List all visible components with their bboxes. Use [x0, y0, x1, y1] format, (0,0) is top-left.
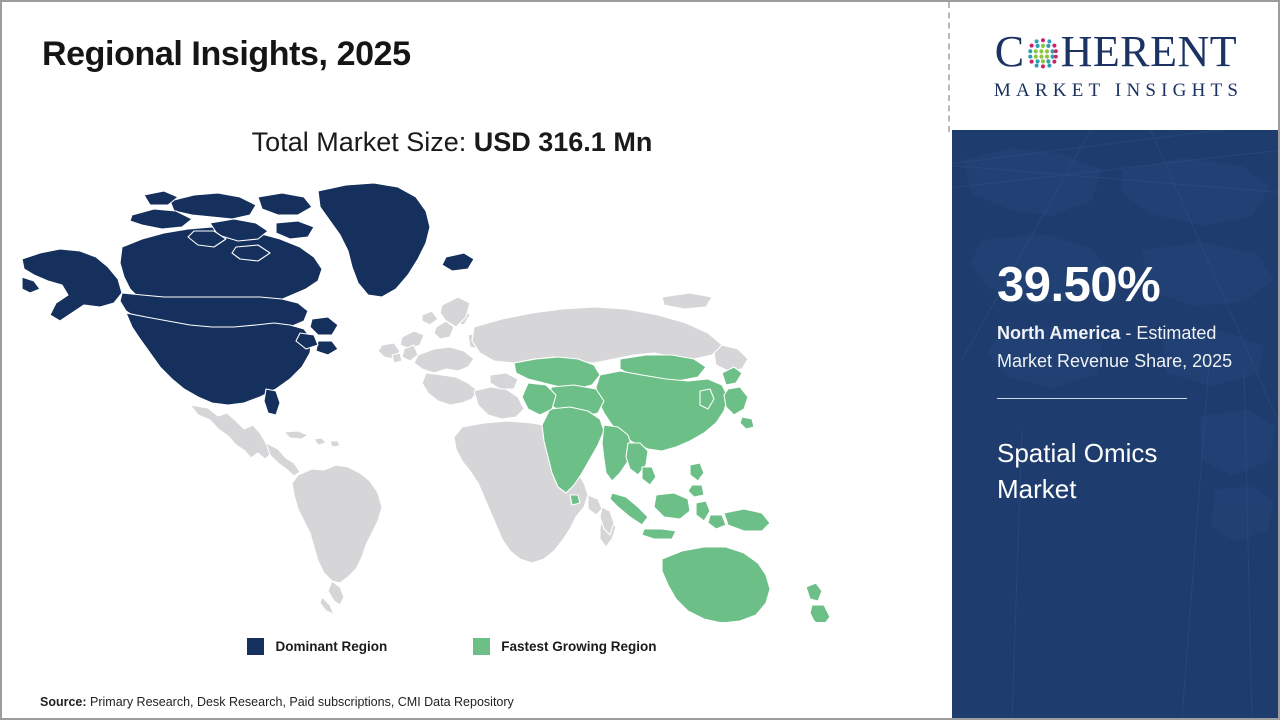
legend-label-fastest-growing: Fastest Growing Region	[501, 639, 656, 654]
market-name: Spatial Omics Market	[997, 435, 1237, 509]
map-region-north-america	[22, 183, 474, 415]
market-size-value: USD 316.1 Mn	[474, 127, 653, 157]
stat-value: 39.50%	[997, 260, 1247, 311]
stat-panel-content: 39.50% North America - Estimated Market …	[997, 260, 1247, 508]
total-market-size: Total Market Size: USD 316.1 Mn	[2, 127, 902, 158]
logo-wordmark: C	[995, 30, 1237, 74]
legend-swatch-dominant	[247, 638, 264, 655]
infographic-root: Regional Insights, 2025 Total Market Siz…	[0, 0, 1280, 720]
dotted-globe-icon	[1026, 35, 1060, 69]
source-text: Primary Research, Desk Research, Paid su…	[87, 695, 514, 709]
market-size-label: Total Market Size:	[252, 127, 474, 157]
brand-logo: C	[952, 2, 1280, 130]
vertical-dashed-divider	[948, 2, 950, 132]
panel-divider-rule	[997, 398, 1187, 399]
map-legend: Dominant Region Fastest Growing Region	[2, 638, 902, 655]
legend-item-fastest-growing: Fastest Growing Region	[473, 638, 656, 655]
legend-label-dominant: Dominant Region	[275, 639, 387, 654]
legend-item-dominant: Dominant Region	[247, 638, 387, 655]
world-map	[22, 177, 902, 622]
page-title: Regional Insights, 2025	[42, 35, 411, 74]
logo-tagline: MARKET INSIGHTS	[989, 80, 1243, 102]
stat-panel: 39.50% North America - Estimated Market …	[952, 130, 1280, 718]
source-note: Source: Primary Research, Desk Research,…	[40, 695, 514, 709]
map-region-asia-pacific	[514, 355, 830, 622]
source-label: Source:	[40, 695, 87, 709]
logo-letters-herent: HERENT	[1061, 30, 1238, 74]
left-content-pane: Regional Insights, 2025 Total Market Siz…	[2, 2, 950, 718]
stat-region-name: North America	[997, 323, 1120, 343]
stat-description: North America - Estimated Market Revenue…	[997, 320, 1245, 375]
legend-swatch-fastest-growing	[473, 638, 490, 655]
logo-letter-c: C	[995, 30, 1025, 74]
